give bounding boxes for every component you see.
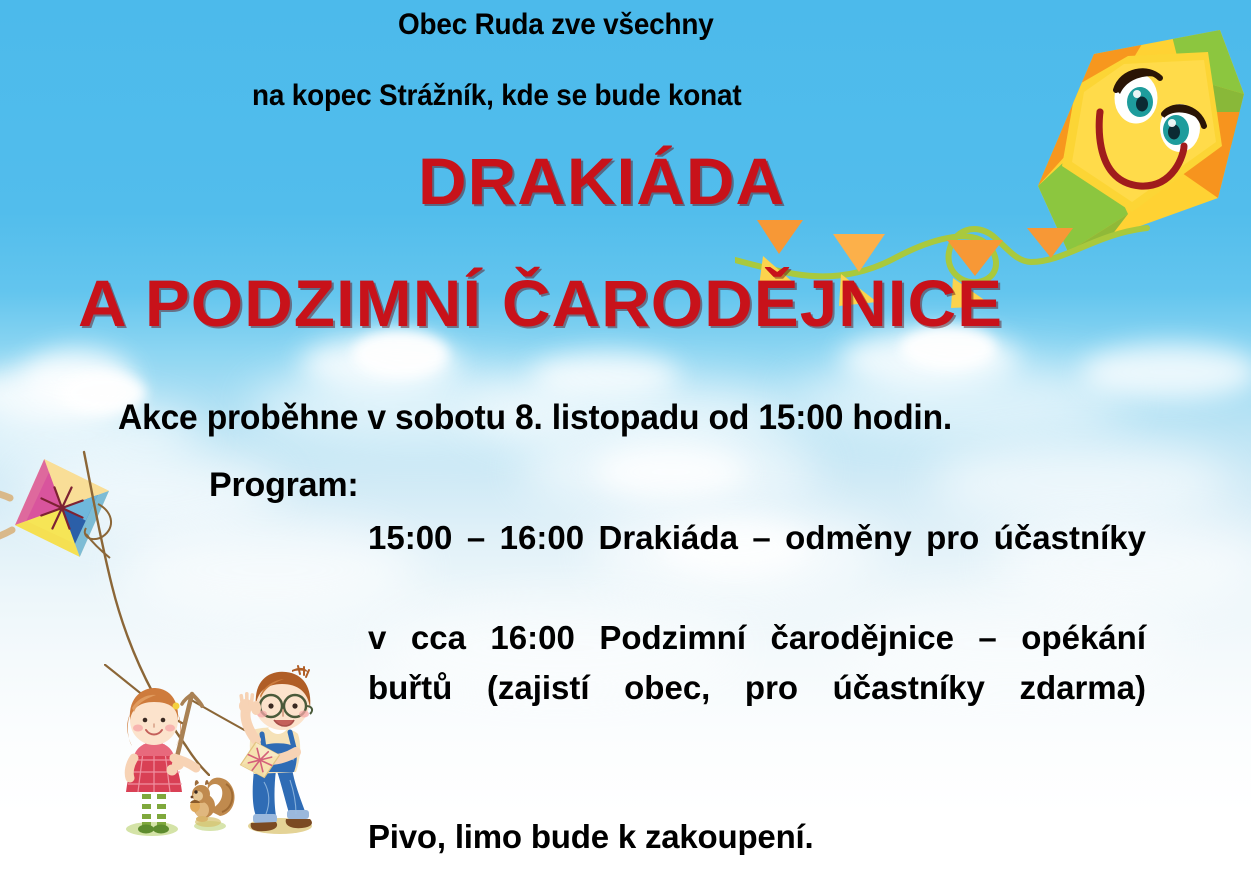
event-date-line: Akce proběhne v sobotu 8. listopadu od 1…: [118, 398, 952, 438]
children-flying-kite-illustration: [104, 664, 360, 854]
program-item-1: 15:00 – 16:00 Drakiáda – odměny pro účas…: [368, 513, 1146, 613]
page-title-drakiada: DRAKIÁDA: [418, 143, 785, 219]
program-item-2: v cca 16:00 Podzimní čarodějnice – opéká…: [368, 613, 1146, 763]
page-title-carodejnice: A PODZIMNÍ ČARODĚJNICE: [78, 265, 1003, 341]
invitation-line-2: na kopec Strážník, kde se bude konat: [252, 79, 741, 113]
invitation-line-1: Obec Ruda zve všechny: [398, 8, 714, 42]
program-list: 15:00 – 16:00 Drakiáda – odměny pro účas…: [368, 513, 1146, 763]
squirrel-icon: [190, 778, 235, 827]
program-label: Program:: [209, 466, 359, 505]
boy-figure: [236, 666, 312, 831]
girl-figure: [126, 688, 196, 834]
footer-note: Pivo, limo bude k zakoupení.: [368, 818, 813, 856]
poster-canvas: Obec Ruda zve všechny na kopec Strážník,…: [0, 0, 1251, 884]
